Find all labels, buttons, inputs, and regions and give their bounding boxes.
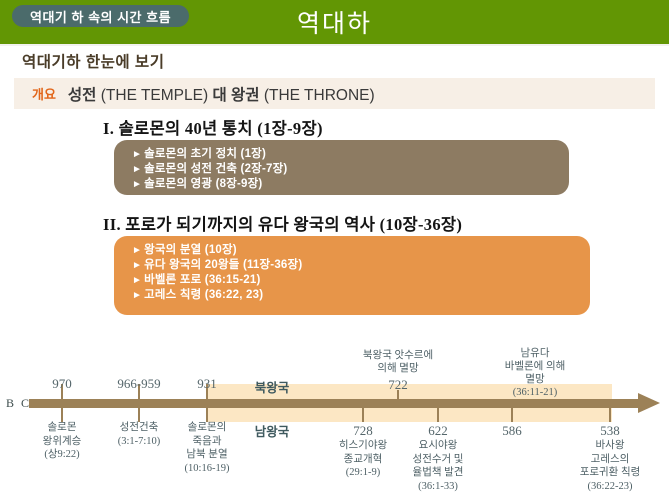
overview-tag: 개요 [32,84,56,103]
caret-icon: ► [132,245,142,256]
outline-item: ►유다 왕국의 20왕들 (11장-36장) [114,258,590,273]
kingdom-label-north: 북왕국 [255,377,290,396]
caret-icon: ► [132,290,142,301]
timeline-event-caption: 성전건축(3:1-7:10) [118,421,161,448]
timeline-year-label: 931 [197,376,217,392]
caret-icon: ► [132,275,142,286]
page-title: 역대하 [297,4,372,40]
outline-heading-1: I. 솔로몬의 40년 통치 (1장-9장) [103,115,323,139]
timeline-tick [397,390,399,406]
overview-band: 개요 성전 (THE TEMPLE) 대 왕권 (THE THRONE) [14,78,655,109]
timeline-year-label: 538 [600,423,620,439]
timeline-tick [206,407,208,422]
overview-en-2: (THE THRONE) [264,87,375,104]
outline-box-2: ►왕국의 분열 (10장) ►유다 왕국의 20왕들 (11장-36장) ►바벨… [114,236,590,315]
timeline-event-caption: 솔로몬의죽음과남북 분열(10:16-19) [185,421,230,475]
outline-item-label: 고레스 칙령 (36:22, 23) [144,289,263,301]
outline-item: ►솔로몬의 성전 건축 (2장-7장) [114,162,569,177]
caret-icon: ► [132,149,142,160]
outline-item-label: 솔로몬의 성전 건축 (2장-7장) [144,163,287,175]
timeline-tick [138,407,140,422]
outline-item: ►솔로몬의 초기 정치 (1장) [114,147,569,162]
overview-ko-2: 대 왕권 [212,87,259,104]
timeline-tick [511,407,513,422]
timeline-tick [362,407,364,422]
outline-item: ►솔로몬의 영광 (8장-9장) [114,177,569,192]
section-heading: 역대기하 한눈에 보기 [22,50,164,72]
overview-en-1: (THE TEMPLE) [101,87,208,104]
timeline-year-label: 970 [52,376,72,392]
outline-box-1: ►솔로몬의 초기 정치 (1장) ►솔로몬의 성전 건축 (2장-7장) ►솔로… [114,140,569,195]
timeline-event-caption: 히스기야왕종교개혁(29:1-9) [339,439,387,480]
timeline-title-pill: 역대기 하 속의 시간 흐름 [12,5,189,27]
outline-item: ►바벨론 포로 (36:15-21) [114,273,590,288]
outline-item-label: 왕국의 분열 (10장) [144,244,237,256]
timeline-year-label: 966-959 [117,376,160,392]
caret-icon: ► [132,179,142,190]
outline-item-label: 유다 왕국의 20왕들 (11장-36장) [144,259,302,271]
timeline-arrow-icon [638,393,660,413]
timeline-tick [437,407,439,422]
timeline-annotation: 남유다바벨론에 의해멸망(36:11-21) [505,347,566,399]
outline-item-label: 솔로몬의 영광 (8장-9장) [144,178,262,190]
timeline-event-caption: 바사왕고레스의포로귀환 칙령(36:22-23) [580,439,641,493]
overview-text: 성전 (THE TEMPLE) 대 왕권 (THE THRONE) [68,83,375,105]
caret-icon: ► [132,260,142,271]
timeline-tick [61,407,63,422]
timeline-era-label: B C [6,396,31,411]
outline-item: ►고레스 칙령 (36:22, 23) [114,288,590,303]
kingdom-label-south: 남왕국 [255,421,290,440]
timeline-tick [609,407,611,422]
outline-heading-2: II. 포로가 되기까지의 유다 왕국의 역사 (10장-36장) [103,211,462,235]
timeline-year-label: 728 [353,423,373,439]
timeline-event-caption: 솔로몬왕위계승(상9:22) [43,421,82,462]
timeline-annotation: 북왕국 앗수르에의해 멸망 [363,349,433,375]
timeline-axis [29,399,646,408]
outline-item-label: 솔로몬의 초기 정치 (1장) [144,148,266,160]
title-divider [0,44,669,46]
outline-item: ►왕국의 분열 (10장) [114,243,590,258]
outline-item-label: 바벨론 포로 (36:15-21) [144,274,260,286]
caret-icon: ► [132,164,142,175]
timeline-year-label: 586 [502,423,522,439]
timeline-event-caption: 요시야왕성전수거 및율법책 발견(36:1-33) [413,439,464,493]
overview-ko-1: 성전 [68,87,97,104]
timeline-year-label: 622 [428,423,448,439]
